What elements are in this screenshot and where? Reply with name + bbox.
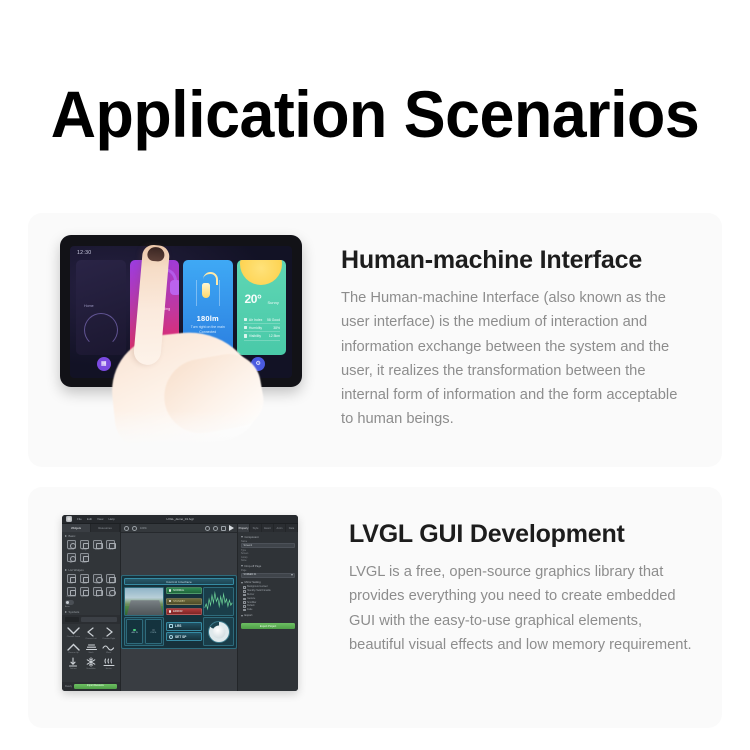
ide-properties-panel: Property Style Event Anim Data Component… — [237, 524, 298, 691]
checkbox-icon[interactable] — [243, 609, 246, 612]
weather-stat-row: Air Index 58 Good — [244, 316, 281, 324]
lamp-icon — [195, 272, 221, 306]
canvas-image-widget[interactable] — [124, 587, 164, 616]
lvgl-text-block: LVGL GUI Development LVGL is a free, ope… — [304, 487, 722, 657]
touchscreen-tablet: 12:30 Home — [60, 235, 302, 387]
menu-help[interactable]: Help — [108, 517, 114, 521]
tab-resources[interactable]: Resources — [91, 524, 120, 532]
weather-condition: Sunny — [268, 300, 279, 305]
section-title-basic[interactable]: Basic — [65, 534, 117, 538]
meter-cool[interactable]: COOL — [145, 619, 162, 644]
page-root: Application Scenarios 12:30 Home — [0, 0, 750, 750]
gauge-knob-icon — [208, 621, 230, 643]
check-item[interactable]: Fade — [243, 609, 295, 612]
symbol-stack-icon[interactable]: Stack — [83, 643, 100, 654]
symbol-chevron-down-icon[interactable]: Chevron Down — [65, 627, 82, 640]
ide-main: Widgets Resources Basic Button Image Swi… — [62, 524, 298, 691]
palette-section-symbols: Symbols — [62, 608, 120, 616]
checkbox-icon[interactable] — [243, 598, 246, 601]
symbol-filter-dropdown[interactable] — [65, 617, 79, 622]
ide-widget-palette: Widgets Resources Basic Button Image Swi… — [62, 524, 121, 691]
ide-titlebar: File Edit View Help LVGL_demo_01.lvgl — [62, 515, 298, 524]
widget-icon — [106, 540, 115, 549]
widget-icon — [80, 587, 89, 596]
checkbox-icon[interactable] — [243, 605, 246, 608]
widget-icon — [80, 540, 89, 549]
media-fade — [54, 411, 312, 457]
symbol-heater-icon[interactable]: Heater — [100, 657, 117, 670]
widget-icon — [80, 574, 89, 583]
widget-item[interactable]: Arc — [65, 553, 77, 565]
property-group-mirror[interactable]: Mirror Setting — [241, 581, 295, 584]
dock-phone-icon[interactable]: ☎ — [200, 357, 214, 371]
zoom-out-icon[interactable] — [213, 526, 218, 531]
home-dial-icon — [84, 313, 118, 347]
checkbox-icon[interactable] — [243, 590, 246, 593]
zoom-in-icon[interactable] — [205, 526, 210, 531]
check-item[interactable]: Standby Switch Enable — [243, 590, 295, 593]
tile-home[interactable]: Home — [76, 260, 126, 355]
symbol-grid: Chevron Down Chevron Left Chevron Right — [62, 624, 120, 673]
tile-music-title: Cut To The Feeling Carly Rae — [130, 306, 180, 318]
music-equalizer-icon — [164, 338, 172, 346]
ide-menubar[interactable]: File Edit View Help — [77, 517, 115, 521]
symbol-wave-icon[interactable]: Wave — [100, 643, 117, 654]
redo-icon[interactable] — [132, 526, 137, 531]
hmi-media: 12:30 Home — [54, 227, 312, 453]
widget-item[interactable]: Button — [65, 540, 77, 552]
zoom-level[interactable]: 100% — [140, 527, 147, 530]
canvas-wrap: Control Interface NORMAL STANDBY — [121, 533, 237, 691]
property-group-export[interactable]: Export — [241, 614, 295, 617]
widget-item[interactable]: Image — [78, 540, 90, 552]
canvas-chart-widget[interactable] — [203, 587, 234, 616]
widget-icon — [93, 574, 102, 583]
widget-icon — [67, 540, 76, 549]
canvas-status-group: NORMAL STANDBY ERROR — [166, 587, 202, 616]
stat-icon — [244, 334, 247, 337]
page-title: Application Scenarios — [19, 78, 732, 150]
property-row-name: Name Screen1 — [241, 541, 295, 549]
chevron-down-icon — [291, 574, 293, 576]
checkbox-icon[interactable] — [243, 601, 246, 604]
widget-icon — [67, 553, 76, 562]
canvas-meter-group: AIR IN COOL — [124, 617, 164, 646]
weather-stat-row: Visibility 12.5km — [244, 332, 281, 340]
palette-section-list: List Widgets List Table Chart Canvas Key… — [62, 566, 120, 608]
meter-air-in[interactable]: AIR IN — [126, 619, 143, 644]
checkbox-icon[interactable] — [243, 586, 246, 589]
check-item[interactable]: Background Locked — [243, 586, 295, 589]
tile-light-subtitle: Turn right on the main Connected — [183, 325, 233, 335]
lvgl-media: File Edit View Help LVGL_demo_01.lvgl Wi… — [62, 515, 304, 697]
canvas-row-top: NORMAL STANDBY ERROR — [124, 587, 234, 616]
grid-icon[interactable] — [221, 526, 226, 531]
status-button-error[interactable]: ERROR — [166, 608, 202, 615]
widget-item[interactable]: Spinbox — [78, 587, 90, 599]
menu-edit[interactable]: Edit — [87, 517, 92, 521]
check-item[interactable]: Gesture — [243, 598, 295, 601]
scenario-card-lvgl-gui-development[interactable]: File Edit View Help LVGL_demo_01.lvgl Wi… — [28, 487, 722, 728]
property-row-type: Type Screen — [241, 550, 295, 555]
canvas-toolbar: 100% — [121, 524, 237, 533]
widget-item[interactable]: Switch — [92, 540, 104, 552]
dock-settings-icon[interactable]: ⚙ — [251, 357, 265, 371]
export-project-button[interactable]: Export Project — [241, 623, 295, 630]
design-canvas[interactable]: Control Interface NORMAL STANDBY — [121, 575, 237, 649]
tab-property[interactable]: Property — [238, 524, 250, 532]
card-description: The Human-machine Interface (also known … — [341, 286, 693, 432]
palette-footer: Ready Import Resource — [62, 682, 120, 692]
property-group-dropoff[interactable]: Drop-off Page — [241, 565, 295, 568]
tab-style[interactable]: Style — [250, 524, 262, 532]
palette-section-basic: Basic Button Image Switch Label Arc Slid… — [62, 532, 120, 566]
check-item[interactable]: Default — [243, 605, 295, 608]
widget-item[interactable]: Label — [105, 540, 117, 552]
tablet-clock: 12:30 — [77, 250, 91, 256]
card-description: LVGL is a free, open-source graphics lib… — [349, 560, 696, 657]
property-row-group: Group None — [241, 557, 295, 562]
property-input-name[interactable]: Screen1 — [241, 543, 295, 548]
widget-icon — [106, 574, 115, 583]
tab-data[interactable]: Data — [286, 524, 298, 532]
music-play-button[interactable] — [141, 335, 154, 348]
menu-file[interactable]: File — [77, 517, 82, 521]
tab-widgets[interactable]: Widgets — [62, 524, 91, 532]
tile-light-value: 180lm — [183, 314, 233, 323]
symbol-snowflake-icon[interactable]: Snowflake — [83, 657, 100, 670]
widget-icon — [80, 553, 89, 562]
tile-light[interactable]: 180lm Turn right on the main Connected — [183, 260, 233, 355]
tablet-dock: ▦ ♫ ☎ ⚙ — [78, 354, 284, 374]
widget-icon — [106, 587, 115, 596]
widget-grid-list: List Table Chart Canvas Keyboard Spinbox… — [65, 574, 117, 599]
stat-icon — [244, 326, 247, 329]
property-body: Component Name Screen1 Type Screen Group — [238, 532, 298, 620]
weather-stats: Air Index 58 Good Humidity 38% Visibilit… — [244, 316, 281, 341]
check-item[interactable]: Scrollbar — [243, 601, 295, 604]
widget-item[interactable]: Bar — [92, 587, 104, 599]
checkbox-icon[interactable] — [243, 594, 246, 597]
ide-canvas-area: 100% Control Interface — [121, 524, 237, 691]
canvas-button-set-sp[interactable]: SET SP — [166, 632, 202, 641]
tab-event[interactable]: Event — [262, 524, 274, 532]
symbol-chevron-right-icon[interactable]: Chevron Right — [100, 627, 117, 640]
section-title-list[interactable]: List Widgets — [65, 568, 117, 572]
widget-item[interactable]: Chart — [92, 574, 104, 586]
canvas-button-group: LRS SET SP — [166, 617, 202, 646]
menu-view[interactable]: View — [97, 517, 103, 521]
canvas-button-lrs[interactable]: LRS — [166, 622, 202, 631]
undo-icon[interactable] — [124, 526, 129, 531]
stat-icon — [244, 318, 247, 321]
widget-item[interactable]: Canvas — [105, 574, 117, 586]
widget-item[interactable]: Slider — [78, 553, 90, 565]
tablet-screen[interactable]: 12:30 Home — [70, 246, 292, 378]
widget-icon — [93, 540, 102, 549]
card-heading: Human-machine Interface — [341, 245, 696, 275]
hmi-text-block: Human-machine Interface The Human-machin… — [312, 213, 722, 432]
tile-weather[interactable]: 20° Sunny Air Index 58 Good Humidity 38% — [237, 260, 287, 355]
widget-item[interactable]: Led — [105, 587, 117, 599]
tablet-tiles: Home Cut To The Feeling Carly Rae — [76, 260, 286, 355]
ide-document-title: LVGL_demo_01.lvgl — [167, 517, 194, 521]
dock-home-icon[interactable]: ▦ — [97, 357, 111, 371]
widget-icon — [67, 574, 76, 583]
weather-stat-row: Humidity 38% — [244, 324, 281, 332]
property-row-page: Page SCREEN 01 — [241, 570, 295, 578]
palette-status-label: Ready — [65, 685, 72, 688]
property-select-page[interactable]: SCREEN 01 — [241, 573, 295, 579]
dock-music-icon[interactable]: ♫ — [148, 357, 162, 371]
property-value-group: None — [241, 560, 295, 562]
weather-temperature: 20° — [245, 292, 262, 306]
widget-grid-basic: Button Image Switch Label Arc Slider — [65, 540, 117, 565]
lvgl-ide-window: File Edit View Help LVGL_demo_01.lvgl Wi… — [62, 515, 298, 691]
card-heading: LVGL GUI Development — [349, 519, 696, 549]
widget-item[interactable]: Keyboard — [65, 587, 77, 599]
property-check-list: Background Locked Standby Switch Enable … — [241, 586, 295, 611]
canvas-title: Control Interface — [124, 578, 234, 585]
scenario-card-human-machine-interface[interactable]: 12:30 Home — [28, 213, 722, 467]
status-button-normal[interactable]: NORMAL — [166, 587, 202, 594]
palette-tabs: Widgets Resources — [62, 524, 120, 532]
symbol-search-row[interactable] — [62, 615, 120, 624]
widget-icon — [93, 587, 102, 596]
headphones-icon — [147, 268, 180, 294]
sun-icon — [240, 260, 282, 285]
canvas-row-bottom: AIR IN COOL LRS SET SP — [124, 617, 234, 646]
property-group-component[interactable]: Component — [241, 536, 295, 539]
widget-item[interactable]: Table — [78, 574, 90, 586]
check-item[interactable]: Buzzer — [243, 594, 295, 597]
property-tabs: Property Style Event Anim Data — [238, 524, 298, 532]
anim-toggle[interactable] — [65, 600, 74, 605]
app-logo-icon — [66, 516, 72, 522]
symbol-chevron-up-icon[interactable]: Chevron Up — [65, 643, 82, 654]
status-button-standby[interactable]: STANDBY — [166, 598, 202, 605]
property-value-type: Screen — [241, 553, 295, 555]
run-icon[interactable] — [229, 525, 234, 531]
tile-home-label: Home — [84, 304, 94, 308]
symbol-chevron-left-icon[interactable]: Chevron Left — [83, 627, 100, 640]
widget-item[interactable]: List — [65, 574, 77, 586]
symbol-search-input[interactable] — [81, 617, 118, 622]
symbol-defrost-icon[interactable]: Defrost — [65, 657, 82, 670]
canvas-gauge-widget[interactable] — [203, 617, 234, 646]
tab-anim[interactable]: Anim — [274, 524, 286, 532]
section-title-symbols[interactable]: Symbols — [65, 610, 117, 614]
tile-music[interactable]: Cut To The Feeling Carly Rae — [130, 260, 180, 355]
import-resource-button[interactable]: Import Resource — [74, 684, 117, 690]
widget-icon — [67, 587, 76, 596]
